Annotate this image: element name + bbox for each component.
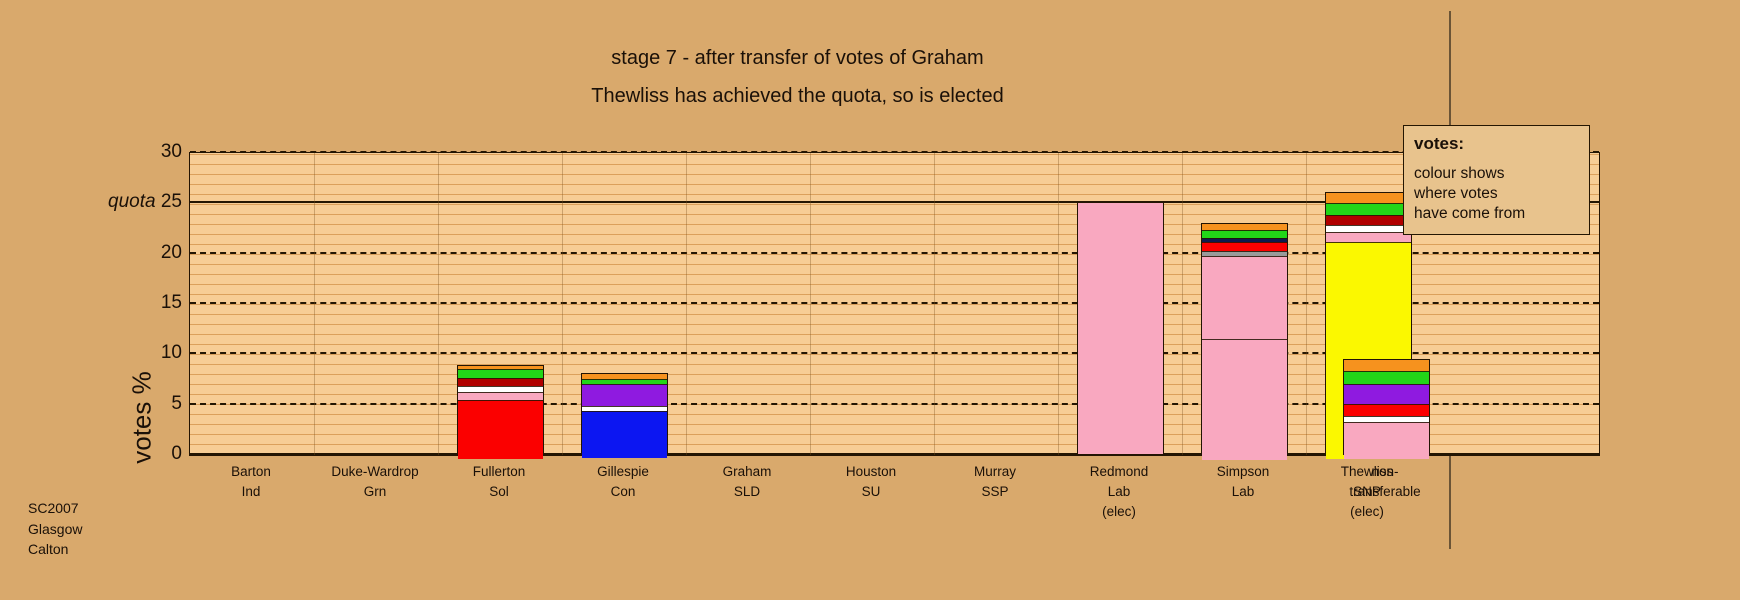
legend-line-1: colour shows [1414, 164, 1579, 184]
x-label-line: transferable [1295, 482, 1475, 502]
y-axis: votes % 0510152025quota30 [60, 152, 182, 456]
bar-segment-red [1344, 404, 1429, 416]
legend-line-2: where votes [1414, 184, 1579, 204]
bar-segment-white [1344, 416, 1429, 423]
chart-subtitle: Thewliss has achieved the quota, so is e… [0, 85, 1595, 108]
bar-segment-red [1202, 242, 1287, 251]
plot-area [189, 152, 1600, 456]
bar-segment-orange [1326, 193, 1411, 203]
caption-line-2: Glasgow [28, 519, 82, 540]
category-separator [810, 153, 811, 455]
y-tick-20: 20 [161, 242, 182, 264]
bar-segment-pink [1326, 232, 1411, 242]
legend-title: votes: [1414, 134, 1579, 154]
bar-segment-red [458, 400, 543, 459]
x-label-line: (elec) [1029, 502, 1209, 522]
category-separator [1182, 153, 1183, 455]
x-label-line: non- [1295, 462, 1475, 482]
bar-segment-darkred [1326, 215, 1411, 225]
category-separator [686, 153, 687, 455]
bar-segment-purple [1344, 384, 1429, 404]
category-separator [562, 153, 563, 455]
x-label-non-transferable: non-transferable [1295, 462, 1475, 502]
bar-segment-green [458, 369, 543, 378]
y-tick-15: 15 [161, 292, 182, 314]
bar-segment-pink [1078, 203, 1163, 454]
category-separator [1058, 153, 1059, 455]
y-axis-label: votes % [127, 328, 158, 508]
gridline-30 [190, 151, 1599, 153]
category-separator [438, 153, 439, 455]
bar-segment-darkred [458, 378, 543, 386]
bar-segment-orange [1344, 360, 1429, 371]
bar-segment-purple [582, 384, 667, 406]
bar-segment-blue [582, 411, 667, 458]
category-separator [314, 153, 315, 455]
bar-simpson[interactable] [1201, 223, 1288, 455]
category-separator [1306, 153, 1307, 455]
chart-caption: SC2007 Glasgow Calton [28, 498, 82, 560]
x-label-line: (elec) [1277, 502, 1457, 522]
category-separator [934, 153, 935, 455]
bar-gillespie[interactable] [581, 373, 668, 455]
y-tick-25: 25 [161, 191, 182, 213]
bar-segment-green [1202, 230, 1287, 238]
caption-line-1: SC2007 [28, 498, 82, 519]
y-tick-30: 30 [161, 141, 182, 163]
bar-redmond[interactable] [1077, 202, 1164, 455]
chart-title: stage 7 - after transfer of votes of Gra… [0, 47, 1595, 70]
bar-segment-green [1344, 371, 1429, 384]
bar-fullerton[interactable] [457, 365, 544, 455]
caption-line-3: Calton [28, 539, 82, 560]
quota-label: quota [108, 191, 156, 213]
bar-segment-pink [458, 392, 543, 400]
bar-segment-pink [1202, 256, 1287, 339]
legend-box: votes: colour shows where votes have com… [1403, 125, 1590, 235]
bar-segment-green [1326, 203, 1411, 215]
bar-segment-pink [1344, 422, 1429, 458]
y-tick-5: 5 [171, 393, 182, 415]
chart-canvas: stage 7 - after transfer of votes of Gra… [0, 0, 1740, 600]
y-tick-10: 10 [161, 342, 182, 364]
bar-segment-pink [1202, 339, 1287, 460]
bar-segment-white [1326, 225, 1411, 232]
bar-non-transferable[interactable] [1343, 359, 1430, 455]
legend-line-3: have come from [1414, 204, 1579, 224]
